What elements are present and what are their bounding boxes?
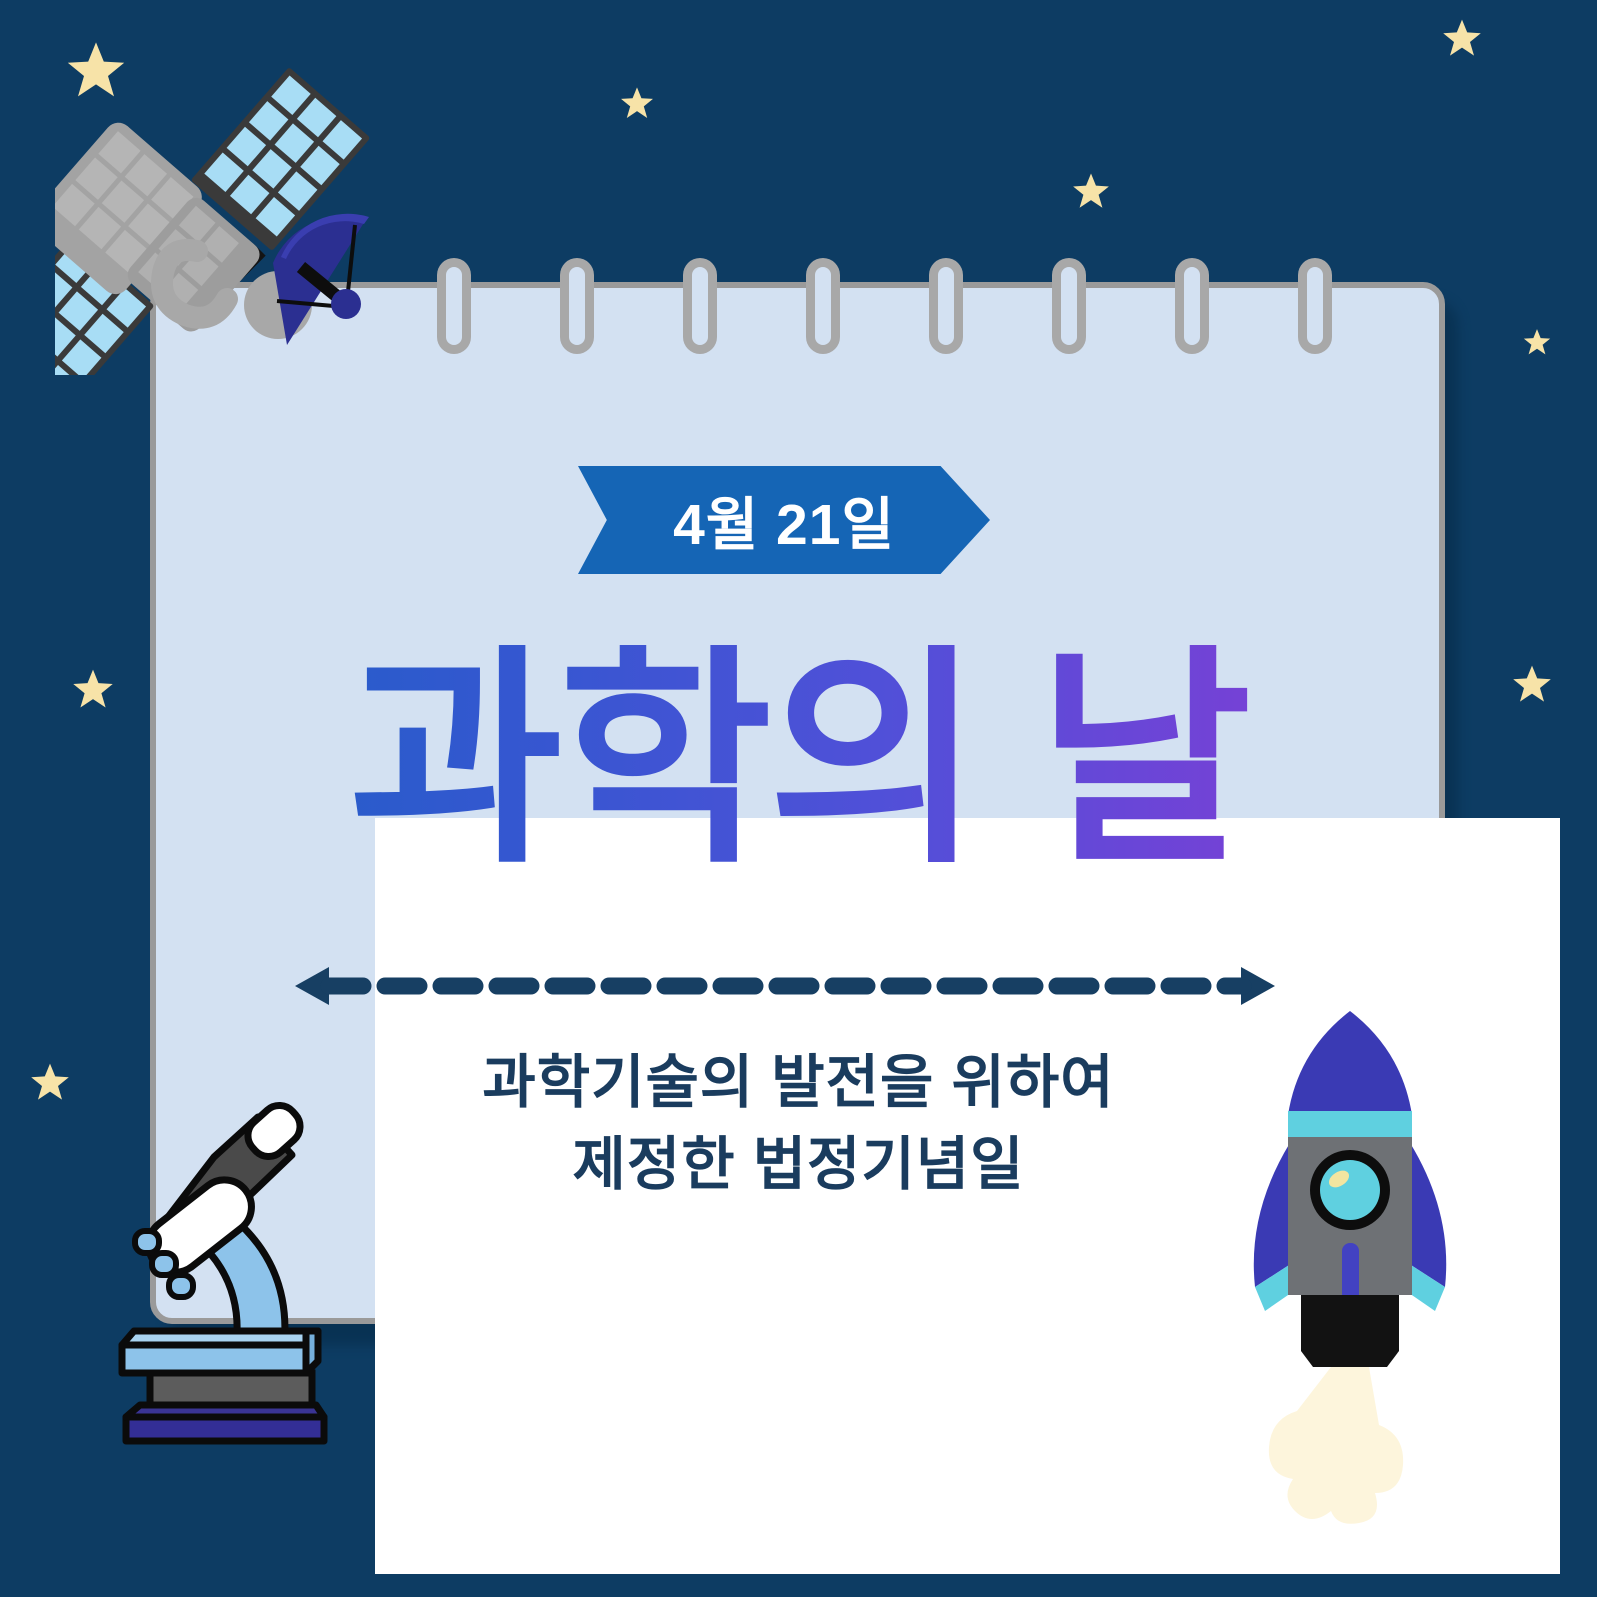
binder-ring: [806, 258, 840, 354]
binder-ring: [1175, 258, 1209, 354]
date-ribbon: 4월 21일: [578, 466, 990, 574]
star-icon: [1523, 328, 1551, 356]
binder-ring: [929, 258, 963, 354]
binder-ring: [683, 258, 717, 354]
microscope-icon: [110, 1095, 360, 1450]
rocket-icon: [1205, 985, 1495, 1550]
binder-ring: [1052, 258, 1086, 354]
double-headed-dashed-arrow-icon: [295, 963, 1275, 1009]
page-title: 과학의 날: [0, 645, 1597, 877]
star-icon: [620, 86, 654, 120]
science-day-poster: 4월 21일 과학의 날 과학기술의 발전을 위하여 제정한 법정기념일: [0, 0, 1597, 1597]
star-icon: [1072, 172, 1110, 210]
satellite-icon: [55, 45, 385, 380]
binder-ring: [560, 258, 594, 354]
binder-ring: [437, 258, 471, 354]
date-ribbon-label: 4월 21일: [673, 479, 895, 561]
binder-ring: [1298, 258, 1332, 354]
star-icon: [1442, 18, 1482, 58]
